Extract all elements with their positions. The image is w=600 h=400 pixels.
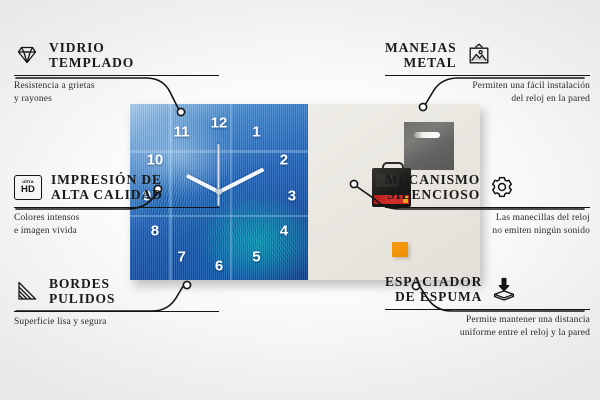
callout-desc-line2: no emiten ningún sonido xyxy=(385,225,590,238)
callout-title: MANEJAS METAL xyxy=(385,40,457,71)
callout-description: Las manecillas del reloj no emiten ningú… xyxy=(385,212,590,237)
callout-header: BORDES PULIDOS xyxy=(14,276,219,307)
callout-description: Colores intensos e imagen vívida xyxy=(14,212,219,237)
callout-divider xyxy=(14,75,219,77)
clock-numeral-6: 6 xyxy=(215,258,223,273)
ultra-hd-icon: ultra HD xyxy=(14,175,42,200)
callout-title-line2: SILENCIOSO xyxy=(385,187,480,202)
callout-divider xyxy=(385,207,590,209)
callout-metal-handles: MANEJAS METAL Permiten una fácil instala… xyxy=(385,40,590,105)
callout-description: Permite mantener una distancia uniforme … xyxy=(385,314,590,339)
picture-frame-hook-icon xyxy=(466,42,492,68)
callout-title: ESPACIADOR DE ESPUMA xyxy=(385,274,482,305)
hanger-slot xyxy=(414,132,440,138)
callout-desc-line1: Resistencia a grietas xyxy=(14,80,219,93)
callout-header: ultra HD IMPRESIÓN DE ALTA CALIDAD xyxy=(14,172,219,203)
callout-title: IMPRESIÓN DE ALTA CALIDAD xyxy=(51,172,163,203)
clock-numeral-10: 10 xyxy=(147,153,164,168)
callout-tempered-glass: VIDRIO TEMPLADO Resistencia a grietas y … xyxy=(14,40,219,105)
callout-title-line1: MECANISMO xyxy=(385,172,480,187)
callout-desc-line2: del reloj en la pared xyxy=(385,93,590,106)
callout-desc-line2: y rayones xyxy=(14,93,219,106)
polished-edge-icon xyxy=(14,278,40,304)
callout-title: VIDRIO TEMPLADO xyxy=(49,40,134,71)
diamond-icon xyxy=(14,42,40,68)
callout-hd-print: ultra HD IMPRESIÓN DE ALTA CALIDAD Color… xyxy=(14,172,219,237)
clock-numeral-1: 1 xyxy=(252,125,260,140)
callout-divider xyxy=(14,311,219,313)
callout-title-line1: VIDRIO xyxy=(49,40,134,55)
callout-foam-spacer: ESPACIADOR DE ESPUMA Permite mantener un… xyxy=(385,274,590,339)
callout-divider xyxy=(14,207,219,209)
foam-spacer-pad xyxy=(392,242,408,257)
callout-description: Resistencia a grietas y rayones xyxy=(14,80,219,105)
callout-title-line2: PULIDOS xyxy=(49,291,115,306)
clock-numeral-3: 3 xyxy=(288,188,296,203)
callout-desc-line2: uniforme entre el reloj y la pared xyxy=(385,327,590,340)
gear-icon xyxy=(489,174,515,200)
arrow-down-layers-icon xyxy=(491,276,517,302)
metal-hanger-plate xyxy=(404,122,454,170)
callout-silent-mechanism: MECANISMO SILENCIOSO Las manecillas del … xyxy=(385,172,590,237)
clock-numeral-4: 4 xyxy=(280,223,288,238)
callout-title-line1: IMPRESIÓN DE xyxy=(51,172,163,187)
callout-title-line2: TEMPLADO xyxy=(49,55,134,70)
ultra-hd-icon-large-label: HD xyxy=(21,185,35,195)
callout-desc-line1: Las manecillas del reloj xyxy=(385,212,590,225)
clock-numeral-2: 2 xyxy=(280,153,288,168)
callout-header: ESPACIADOR DE ESPUMA xyxy=(385,274,590,305)
callout-desc-line1: Superficie lisa y segura xyxy=(14,316,219,329)
callout-header: MANEJAS METAL xyxy=(385,40,590,71)
callout-description: Superficie lisa y segura xyxy=(14,316,219,329)
clock-numeral-7: 7 xyxy=(177,250,185,265)
callout-title-line1: ESPACIADOR xyxy=(385,274,482,289)
clock-numeral-5: 5 xyxy=(252,250,260,265)
callout-divider xyxy=(385,309,590,311)
callout-title-line2: METAL xyxy=(385,55,457,70)
dial-grid-line xyxy=(230,104,232,280)
callout-header: MECANISMO SILENCIOSO xyxy=(385,172,590,203)
callout-title: MECANISMO SILENCIOSO xyxy=(385,172,480,203)
infographic-canvas: 12 1 2 3 4 5 6 7 8 9 10 11 xyxy=(0,0,600,400)
mechanism-hanger-hook xyxy=(382,162,404,172)
callout-desc-line1: Colores intensos xyxy=(14,212,219,225)
callout-desc-line1: Permiten una fácil instalación xyxy=(385,80,590,93)
callout-description: Permiten una fácil instalación del reloj… xyxy=(385,80,590,105)
callout-polished-edges: BORDES PULIDOS Superficie lisa y segura xyxy=(14,276,219,329)
callout-title-line1: BORDES xyxy=(49,276,115,291)
clock-numeral-12: 12 xyxy=(211,116,228,131)
callout-desc-line2: e imagen vívida xyxy=(14,225,219,238)
callout-desc-line1: Permite mantener una distancia xyxy=(385,314,590,327)
callout-title-line2: ALTA CALIDAD xyxy=(51,187,163,202)
clock-numeral-11: 11 xyxy=(174,125,190,140)
callout-divider xyxy=(385,75,590,77)
callout-title-line2: DE ESPUMA xyxy=(385,289,482,304)
callout-header: VIDRIO TEMPLADO xyxy=(14,40,219,71)
callout-title: BORDES PULIDOS xyxy=(49,276,115,307)
callout-title-line1: MANEJAS xyxy=(385,40,457,55)
